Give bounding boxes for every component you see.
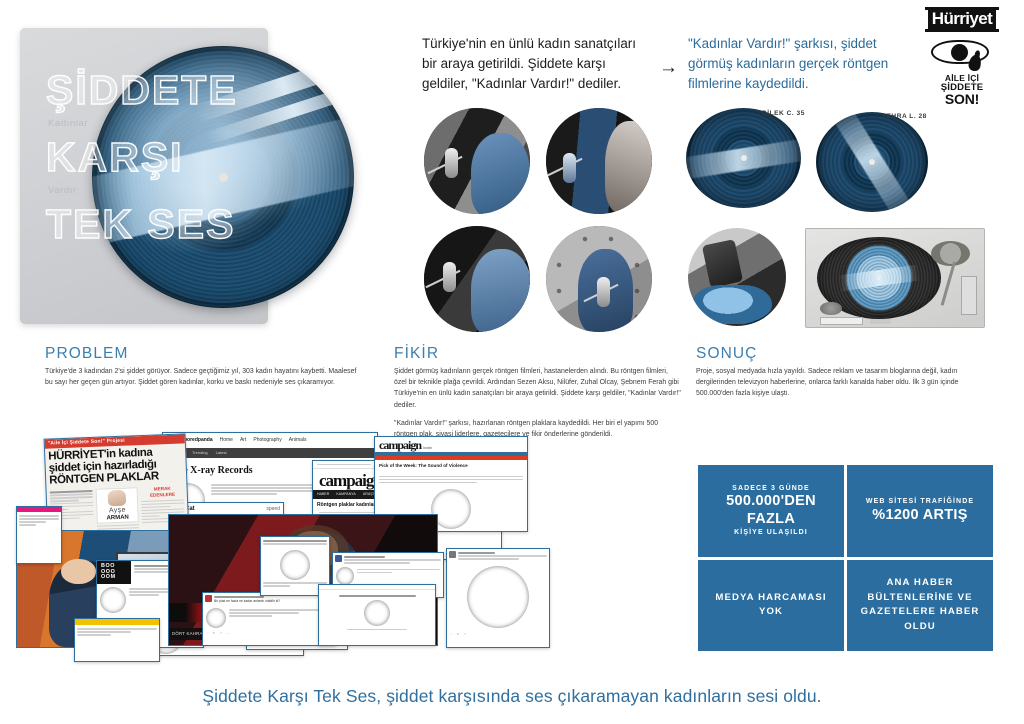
xray-record-dilek: [686, 108, 801, 208]
campaign-slogan-line-3: SON!: [914, 92, 1010, 106]
newspaper-byline-box: Ayşe ARMAN: [95, 487, 139, 524]
social-post-text: Bir plak en fazla ne kadar anlamlı olabi…: [214, 599, 333, 603]
artist-photo-2: [546, 108, 652, 214]
columnist-portrait: [108, 489, 127, 506]
story-text-right: "Kadınlar Vardır!" şarkısı, şiddet görmü…: [688, 34, 906, 93]
booooooom-logo-line-3: OOM: [101, 575, 127, 581]
newspaper-sidebar-title: MERAK EDENLERE: [141, 485, 184, 499]
xray-record-zehra: [816, 112, 928, 212]
eye-teardrop-icon: [931, 38, 993, 72]
collage-card-social-post-3[interactable]: ♡↻↗: [446, 548, 550, 648]
results-grid: SADECE 3 GÜNDE 500.000'DEN FAZLA KİŞİYE …: [698, 465, 993, 651]
hurriyet-logo-text: Hürriyet: [928, 8, 996, 31]
campaign-tr-nav-kampanya[interactable]: KAMPANYA: [336, 492, 355, 497]
album-label-kadinlar: Kadınlar: [48, 118, 261, 129]
album-title-line-2: KARŞI: [46, 137, 261, 178]
result-box-reach: SADECE 3 GÜNDE 500.000'DEN FAZLA KİŞİYE …: [698, 465, 844, 557]
collage-card-sidebar-blog[interactable]: [16, 506, 62, 564]
artist-photo-1: [424, 108, 530, 214]
result-box-traffic: WEB SİTESİ TRAFİĞİNDE %1200 ARTIŞ: [847, 465, 993, 557]
boredpanda-nav-art[interactable]: Art: [240, 437, 246, 444]
boredpanda-nav-home[interactable]: Home: [220, 437, 233, 444]
case-study-board: ŞİDDETE Kadınlar KARŞI Vardır TEK SES Tü…: [0, 0, 1024, 724]
result-no-media-spend-text: MEDYA HARCAMASI YOK: [704, 591, 838, 620]
record-label-zehra: ZEHRA L. 28: [882, 113, 927, 120]
arrow-icon: →: [659, 58, 678, 77]
section-heading-fikir: FİKİR: [394, 345, 439, 363]
section-body-fikir: Şiddet görmüş kadınların gerçek röntgen …: [394, 366, 682, 440]
result-reach-bottom: KİŞİYE ULAŞILDI: [734, 528, 808, 537]
album-cover-artwork: ŞİDDETE Kadınlar KARŞI Vardır TEK SES: [20, 28, 320, 328]
boredpanda-logo-text: boredpanda: [184, 437, 213, 444]
fikir-paragraph-1: Şiddet görmüş kadınların gerçek röntgen …: [394, 366, 682, 411]
social-post-3-record-image: [467, 566, 529, 628]
artist-photo-3: [424, 226, 530, 332]
footer-tagline: Şiddete Karşı Tek Ses, şiddet karşısında…: [0, 686, 1024, 707]
campaign-india-headline: Pick of the Week: The Sound of Violence: [375, 460, 527, 472]
mediacat-partner-logo: speed: [266, 506, 280, 513]
campaign-tr-logo: campaign: [319, 471, 382, 490]
boredpanda-nav-photography[interactable]: Photography: [253, 437, 281, 444]
album-label-vardir: Vardır: [48, 185, 261, 196]
boredpanda-nav-animals[interactable]: Animals: [289, 437, 307, 444]
boredpanda-subnav-trending[interactable]: Trending: [192, 450, 208, 456]
record-label-dilek: DİLEK C. 35: [762, 110, 805, 117]
section-body-problem: Türkiye'de 3 kadından 2'si şiddet görüyo…: [45, 366, 365, 388]
story-text-left: Türkiye'nin en ünlü kadın sanatçıları bi…: [422, 34, 654, 93]
collage-card-social-post-2[interactable]: Bir plak en fazla ne kadar anlamlı olabi…: [202, 592, 336, 646]
campaign-india-locale: India: [423, 445, 432, 451]
boredpanda-subnav-latest[interactable]: Latest: [216, 450, 227, 456]
section-heading-problem: PROBLEM: [45, 345, 129, 363]
album-title-line-1: ŞİDDETE: [46, 70, 261, 111]
problem-paragraph-1: Türkiye'de 3 kadından 2'si şiddet görüyo…: [45, 366, 365, 388]
result-reach-top: SADECE 3 GÜNDE: [732, 484, 810, 493]
artist-photo-4: [546, 226, 652, 332]
result-box-no-media-spend: MEDYA HARCAMASI YOK: [698, 560, 844, 652]
byline-last-name: ARMAN: [98, 515, 137, 522]
turntable-photo: [805, 228, 985, 328]
collage-card-forum[interactable]: [74, 618, 160, 662]
section-heading-sonuc: SONUÇ: [696, 345, 757, 363]
record-cutting-lathe-photo: [688, 228, 786, 326]
sonuc-paragraph-1: Proje, sosyal medyada hızla yayıldı. Sad…: [696, 366, 988, 400]
result-traffic-top: WEB SİTESİ TRAFİĞİNDE: [866, 497, 974, 506]
section-body-sonuc: Proje, sosyal medyada hızla yayıldı. Sad…: [696, 366, 988, 400]
boredpanda-header: boredpanda Home Art Photography Animals: [163, 433, 377, 448]
brand-logo-block: Hürriyet AİLE İÇİ ŞİDDETE SON!: [914, 8, 1010, 107]
collage-card-blog-wide[interactable]: [318, 584, 436, 646]
album-title-block: ŞİDDETE Kadınlar KARŞI Vardır TEK SES: [46, 70, 261, 245]
result-traffic-big: %1200 ARTIŞ: [872, 507, 967, 524]
media-coverage-collage: boredpanda Home Art Photography Animals …: [16, 432, 688, 664]
result-reach-big: 500.000'DEN FAZLA: [704, 493, 838, 528]
campaign-tr-nav-haber[interactable]: HABER: [317, 492, 329, 497]
boredpanda-subnav: Featured Trending Latest: [163, 448, 377, 458]
campaign-india-logo: campaign: [379, 440, 421, 451]
album-title-line-3: TEK SES: [46, 204, 261, 245]
hurriyet-logo: Hürriyet: [928, 8, 996, 31]
result-news-coverage-text: ANA HABER BÜLTENLERİNE VE GAZETELERE HAB…: [853, 576, 987, 634]
result-box-news-coverage: ANA HABER BÜLTENLERİNE VE GAZETELERE HAB…: [847, 560, 993, 652]
artist-photo-grid: [424, 108, 656, 322]
